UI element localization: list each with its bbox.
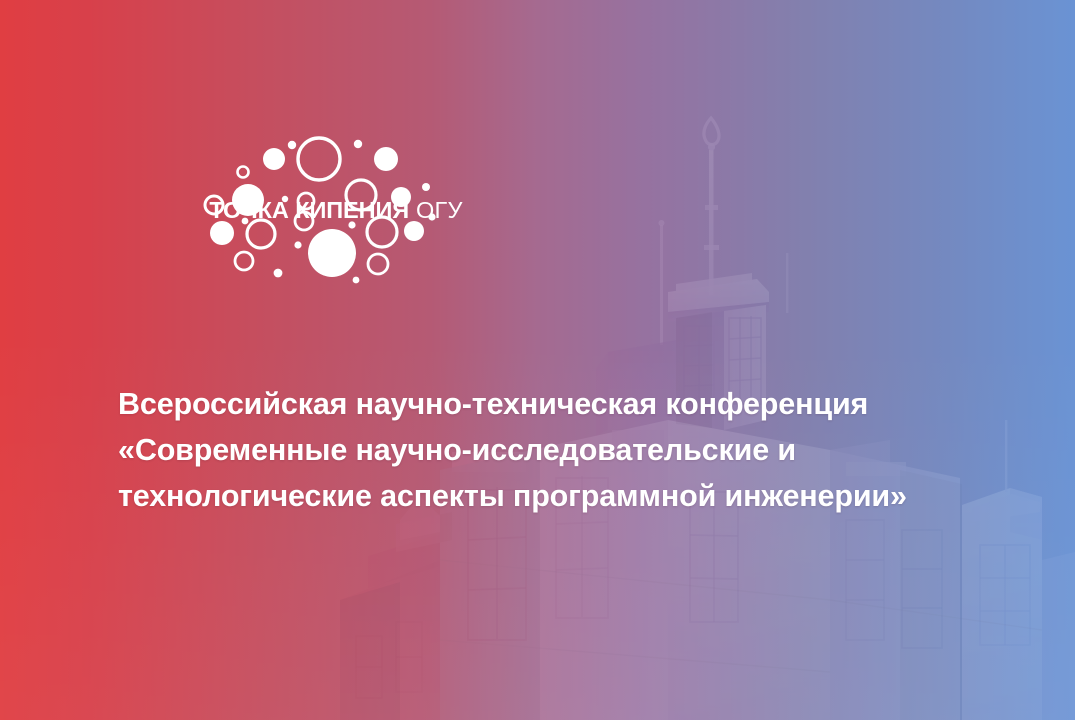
banner-stage: ТОЧКА КИПЕНИЯ ОГУ Всероссийская научно-т… (0, 0, 1075, 720)
tochka-kipeniya-ogu-logo: ТОЧКА КИПЕНИЯ ОГУ (186, 133, 486, 288)
conference-title-line-3: технологические аспекты программной инже… (118, 473, 1018, 519)
conference-title: Всероссийская научно-техническая конфере… (118, 381, 1018, 519)
conference-title-line-1: Всероссийская научно-техническая конфере… (118, 381, 1018, 427)
conference-title-line-2: «Современные научно-исследовательские и (118, 427, 1018, 473)
logo-bubble-mark (186, 133, 486, 288)
building-photo-shadow-pass (0, 0, 1075, 720)
